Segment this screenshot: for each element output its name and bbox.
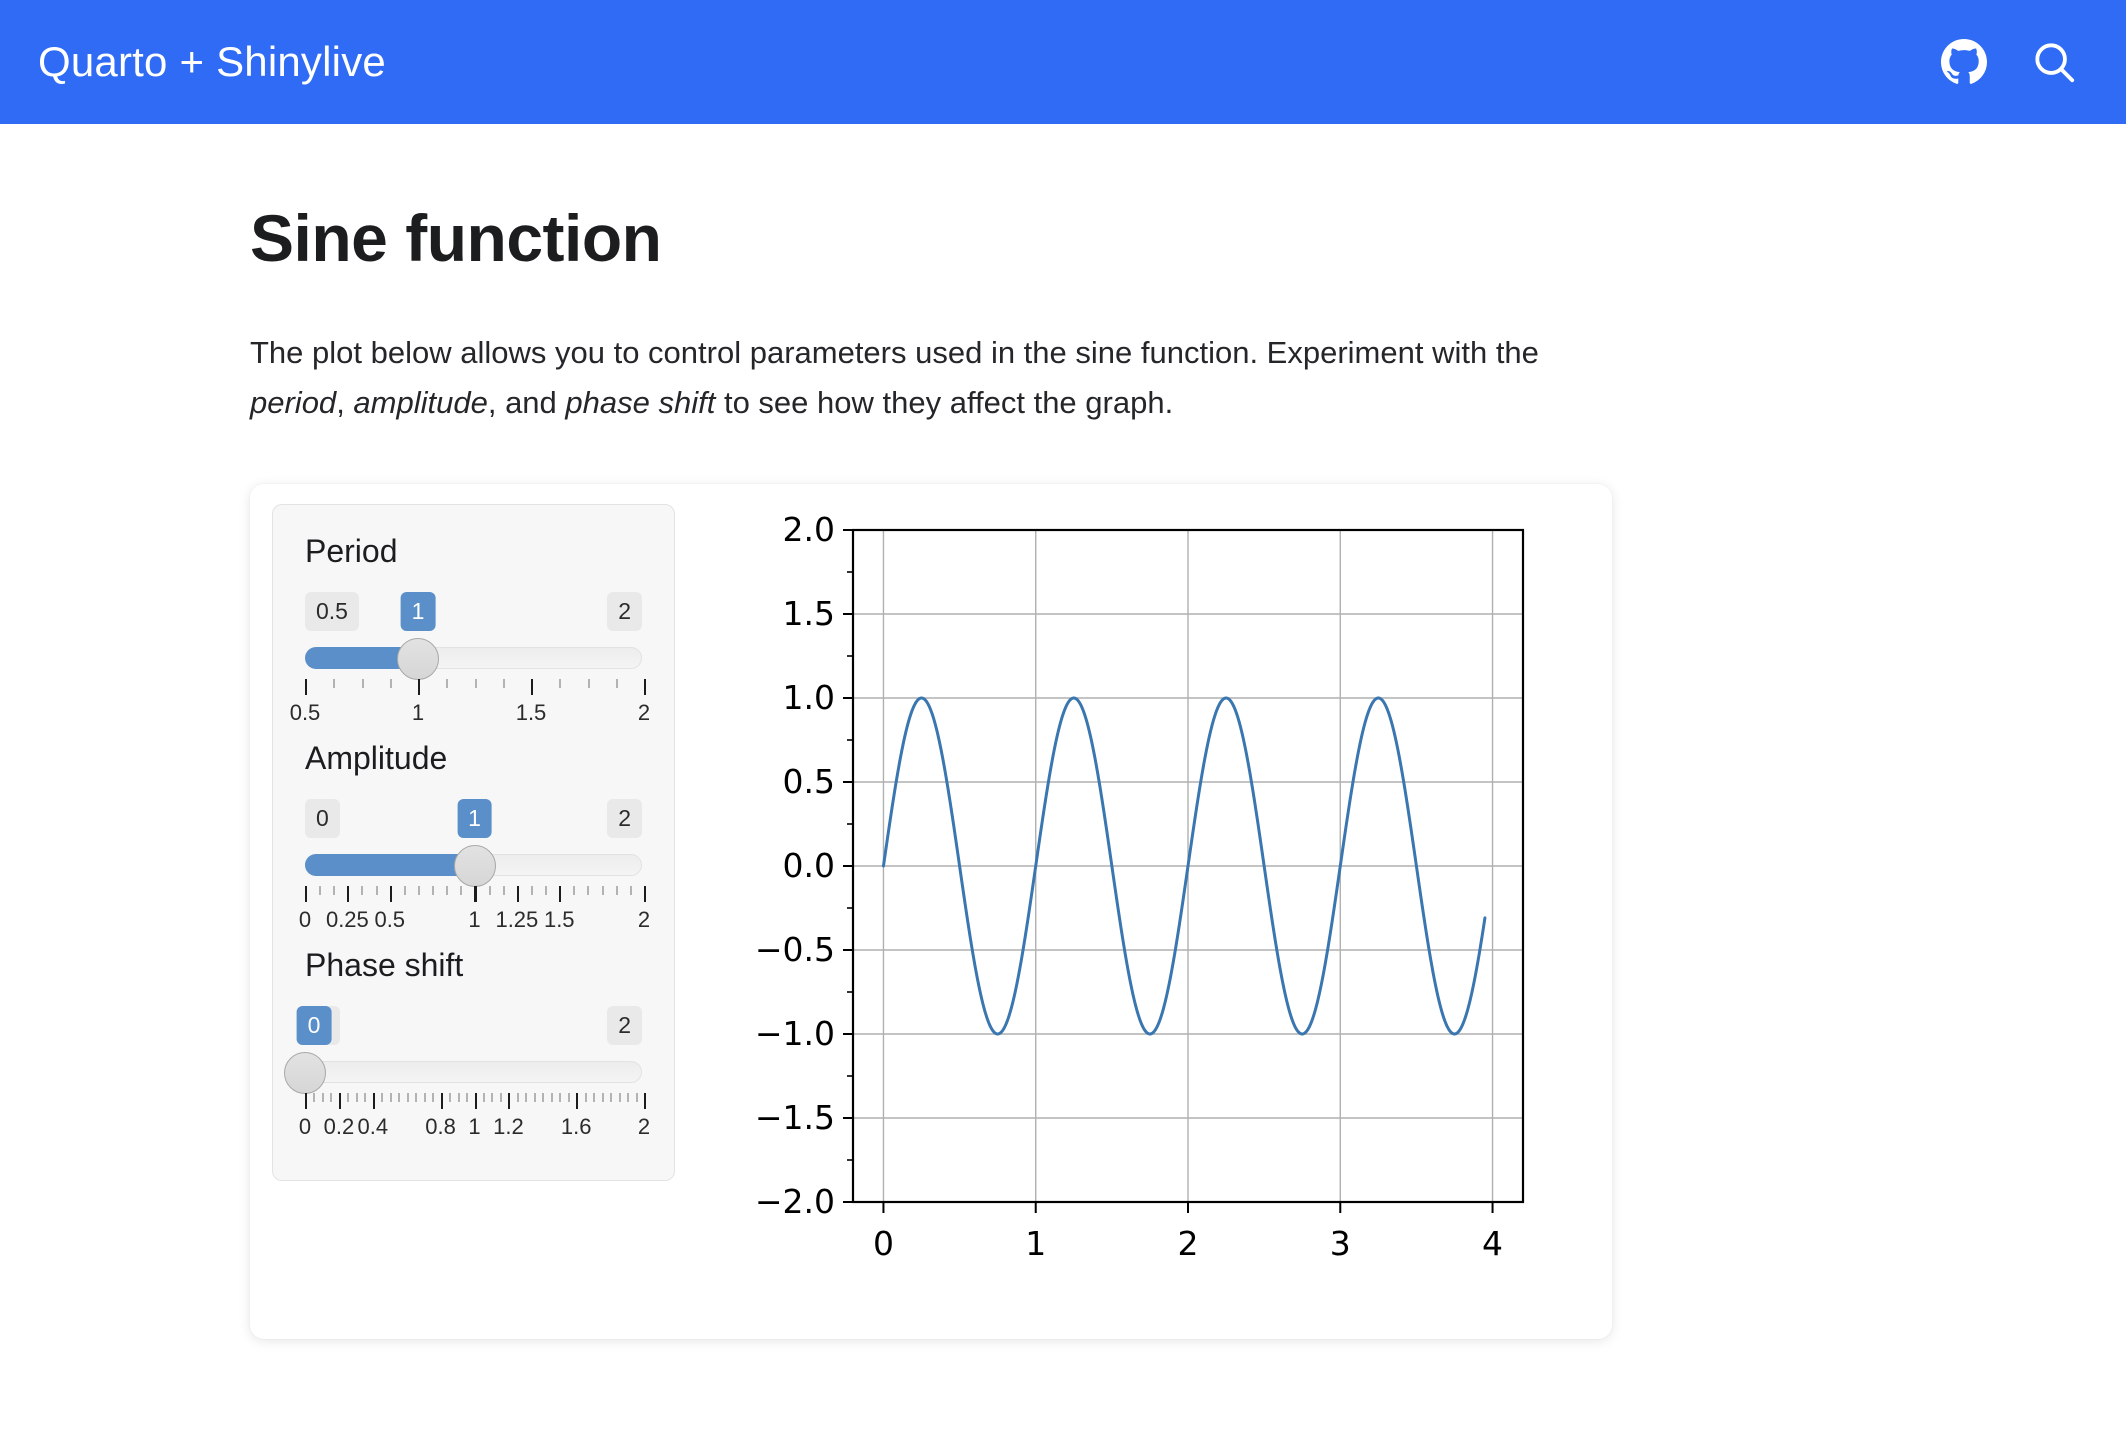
slider-block-amplitude: Amplitude01200.250.511.251.52	[305, 740, 642, 939]
slider-tick	[347, 1093, 349, 1102]
slider-tick	[587, 886, 589, 895]
slider-tick	[466, 1093, 468, 1102]
slider-tick	[491, 1093, 493, 1102]
slider-tick-label: 2	[638, 1114, 650, 1140]
search-icon[interactable]	[2028, 36, 2080, 88]
slider-tick-label: 0.25	[326, 907, 369, 933]
slider-tick-major	[390, 886, 392, 902]
slider-track-fill-amplitude	[305, 854, 475, 876]
slider-tick	[551, 1093, 553, 1102]
slider-tick-labels-amplitude: 00.250.511.251.52	[305, 907, 642, 939]
x-axis-tick-label: 2	[1177, 1224, 1198, 1263]
slider-bubbles-amplitude: 012	[305, 799, 642, 839]
slider-track-phase-shift[interactable]	[305, 1052, 642, 1092]
slider-handle-period[interactable]	[397, 638, 439, 680]
slider-max-label-phase-shift: 2	[607, 1006, 642, 1045]
slider-max-label-amplitude: 2	[607, 799, 642, 838]
slider-tick-major	[644, 886, 646, 902]
slider-tick-label: 0.8	[425, 1114, 456, 1140]
x-axis-tick-label: 4	[1482, 1224, 1503, 1263]
slider-tick-label: 1	[468, 907, 480, 933]
slider-tick-major	[576, 1093, 578, 1109]
description-text-1: The plot below allows you to control par…	[250, 335, 1539, 370]
plot-area: −2.0−1.5−1.0−0.50.00.51.01.52.001234	[675, 504, 1590, 1312]
y-axis-tick-label: −0.5	[754, 930, 834, 969]
slider-handle-phase-shift[interactable]	[284, 1052, 326, 1094]
slider-tick	[531, 886, 533, 895]
slider-tick	[415, 1093, 417, 1102]
slider-tick	[610, 1093, 612, 1102]
y-axis-tick-label: 0.5	[782, 762, 834, 801]
page-title: Sine function	[250, 200, 2126, 276]
slider-tick-major	[339, 1093, 341, 1109]
slider-bubbles-period: 0.512	[305, 592, 642, 632]
slider-label-phase-shift: Phase shift	[305, 947, 642, 984]
slider-tick-major	[475, 886, 477, 902]
slider-tick-major	[373, 1093, 375, 1109]
slider-tick	[503, 886, 505, 895]
slider-tick-label: 0	[299, 907, 311, 933]
slider-tick	[559, 1093, 561, 1102]
slider-tick-label: 1.6	[561, 1114, 592, 1140]
slider-tick	[460, 886, 462, 895]
slider-tick	[424, 1093, 426, 1102]
slider-tick	[489, 886, 491, 895]
slider-tick	[636, 1093, 638, 1102]
navbar-tools	[1938, 36, 2080, 88]
slider-tick	[319, 886, 321, 895]
slider-tick	[446, 679, 448, 688]
slider-tick-label: 1.5	[544, 907, 575, 933]
slider-tick	[404, 886, 406, 895]
slider-tick	[616, 886, 618, 895]
page-body: Sine function The plot below allows you …	[0, 200, 2126, 1339]
slider-value-bubble-period: 1	[401, 592, 436, 631]
slider-tick	[376, 886, 378, 895]
emphasis-phase-shift: phase shift	[565, 385, 715, 420]
slider-tick	[616, 679, 618, 688]
slider-tick	[333, 886, 335, 895]
slider-tick	[364, 1093, 366, 1102]
sine-plot: −2.0−1.5−1.0−0.50.00.51.01.52.001234	[723, 512, 1543, 1312]
slider-tick-label: 2	[638, 700, 650, 726]
slider-tick	[432, 1093, 434, 1102]
slider-tick	[542, 1093, 544, 1102]
slider-tick-label: 1.2	[493, 1114, 524, 1140]
github-icon[interactable]	[1938, 36, 1990, 88]
slider-tick-label: 1.5	[516, 700, 547, 726]
slider-tick-major	[441, 1093, 443, 1109]
slider-tick	[568, 1093, 570, 1102]
slider-tick	[390, 1093, 392, 1102]
slider-block-phase-shift: Phase shift00200.20.40.811.21.62	[305, 947, 642, 1146]
slider-tick	[475, 679, 477, 688]
slider-tick	[322, 1093, 324, 1102]
slider-ticks-period	[305, 679, 642, 697]
shinylive-app-card: Period0.5120.511.52Amplitude01200.250.51…	[250, 484, 1612, 1339]
slider-tick	[362, 679, 364, 688]
slider-tick-label: 0	[299, 1114, 311, 1140]
slider-tick-major	[559, 886, 561, 902]
slider-tick	[585, 1093, 587, 1102]
y-axis-tick-label: 2.0	[782, 512, 834, 549]
slider-tick	[483, 1093, 485, 1102]
slider-tick-major	[305, 1093, 307, 1109]
emphasis-amplitude: amplitude	[353, 385, 487, 420]
slider-ticks-phase-shift	[305, 1093, 642, 1111]
slider-tick	[630, 886, 632, 895]
slider-tick	[330, 1093, 332, 1102]
navbar: Quarto + Shinylive	[0, 0, 2126, 124]
slider-tick	[449, 1093, 451, 1102]
slider-track-period[interactable]	[305, 638, 642, 678]
slider-tick	[503, 679, 505, 688]
slider-tick	[432, 886, 434, 895]
y-axis-tick-label: −1.0	[754, 1014, 834, 1053]
slider-tick	[619, 1093, 621, 1102]
slider-block-period: Period0.5120.511.52	[305, 533, 642, 732]
y-axis-tick-label: −1.5	[754, 1098, 834, 1137]
slider-tick-label: 1.25	[495, 907, 538, 933]
slider-tick-labels-period: 0.511.52	[305, 700, 642, 732]
slider-label-amplitude: Amplitude	[305, 740, 642, 777]
description-text-2: to see how they affect the graph.	[715, 385, 1173, 420]
slider-tick	[407, 1093, 409, 1102]
slider-handle-amplitude[interactable]	[454, 845, 496, 887]
slider-tick-label: 0.4	[358, 1114, 389, 1140]
slider-tick	[500, 1093, 502, 1102]
slider-tick-labels-phase-shift: 00.20.40.811.21.62	[305, 1114, 642, 1146]
x-axis-tick-label: 1	[1025, 1224, 1046, 1263]
slider-min-label-amplitude: 0	[305, 799, 340, 838]
slider-tick	[545, 886, 547, 895]
emphasis-period: period	[250, 385, 336, 420]
slider-tick	[588, 679, 590, 688]
slider-tick	[381, 1093, 383, 1102]
slider-tick	[525, 1093, 527, 1102]
x-axis-tick-label: 3	[1329, 1224, 1350, 1263]
slider-tick-major	[305, 679, 307, 695]
slider-ticks-amplitude	[305, 886, 642, 904]
slider-tick-label: 1	[412, 700, 424, 726]
slider-tick-label: 0.5	[290, 700, 321, 726]
slider-tick-major	[475, 1093, 477, 1109]
slider-tick	[361, 886, 363, 895]
slider-value-bubble-amplitude: 1	[457, 799, 492, 838]
slider-tick	[418, 886, 420, 895]
slider-tick	[398, 1093, 400, 1102]
page-description: The plot below allows you to control par…	[250, 328, 1580, 428]
y-axis-tick-label: −2.0	[754, 1182, 834, 1221]
slider-tick-label: 1	[468, 1114, 480, 1140]
navbar-title: Quarto + Shinylive	[38, 38, 386, 86]
slider-tick-major	[531, 679, 533, 695]
slider-tick	[602, 886, 604, 895]
y-axis-tick-label: 1.0	[782, 678, 834, 717]
slider-tick	[602, 1093, 604, 1102]
slider-bubbles-phase-shift: 002	[305, 1006, 642, 1046]
slider-tick	[313, 1093, 315, 1102]
slider-tick-major	[644, 1093, 646, 1109]
slider-tick	[559, 679, 561, 688]
slider-tick	[573, 886, 575, 895]
slider-tick-major	[418, 679, 420, 695]
slider-value-bubble-phase-shift: 0	[297, 1006, 332, 1045]
slider-tick-major	[517, 886, 519, 902]
y-axis-tick-label: 0.0	[782, 846, 834, 885]
slider-tick-major	[347, 886, 349, 902]
slider-tick	[534, 1093, 536, 1102]
slider-tick-major	[508, 1093, 510, 1109]
y-axis-tick-label: 1.5	[782, 594, 834, 633]
slider-tick	[458, 1093, 460, 1102]
slider-max-label-period: 2	[607, 592, 642, 631]
slider-tick	[333, 679, 335, 688]
slider-tick-label: 2	[638, 907, 650, 933]
controls-sidebar: Period0.5120.511.52Amplitude01200.250.51…	[272, 504, 675, 1181]
slider-tick	[517, 1093, 519, 1102]
x-axis-tick-label: 0	[872, 1224, 893, 1263]
slider-min-label-period: 0.5	[305, 592, 359, 631]
slider-tick	[356, 1093, 358, 1102]
slider-tick	[627, 1093, 629, 1102]
slider-tick	[446, 886, 448, 895]
slider-tick-label: 0.5	[374, 907, 405, 933]
slider-tick	[390, 679, 392, 688]
slider-tick-major	[305, 886, 307, 902]
slider-tick-label: 0.2	[324, 1114, 355, 1140]
description-sep-2: , and	[488, 385, 566, 420]
slider-track-amplitude[interactable]	[305, 845, 642, 885]
slider-track-bg-phase-shift	[305, 1061, 642, 1083]
slider-tick	[593, 1093, 595, 1102]
description-sep-1: ,	[336, 385, 353, 420]
slider-label-period: Period	[305, 533, 642, 570]
slider-tick-major	[644, 679, 646, 695]
